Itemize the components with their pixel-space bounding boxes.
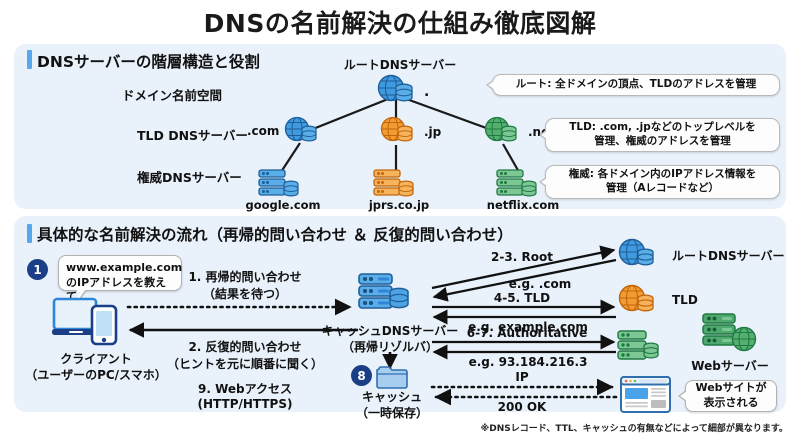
hierarchy-heading: DNSサーバーの階層構造と役割	[37, 50, 260, 72]
row-label-namespace: ドメイン名前空間	[122, 85, 222, 104]
iterative-answer-3: e.g. 93.184.216.3	[469, 355, 588, 369]
authoritative-google-label: google.com	[245, 198, 320, 212]
root-server-title: ルートDNSサーバー	[344, 56, 457, 73]
flow-heading: 具体的な名前解決の流れ（再帰的問い合わせ ＆ 反復的問い合わせ）	[37, 223, 513, 245]
authoritative-jprs-label: jprs.co.jp	[369, 198, 429, 212]
hierarchy-heading-bar	[27, 50, 32, 69]
authoritative-netflix-label: netflix.com	[487, 198, 559, 212]
cache-label-line1: キャッシュ	[362, 388, 422, 405]
arrow-label-2-line2: （ヒントを元に順番に聞く）	[167, 355, 323, 372]
web-server-label: Webサーバー	[691, 357, 768, 374]
client-label-line1: クライアント	[60, 350, 132, 367]
callout-authoritative: 権威: 各ドメイン内のIPアドレス情報を 管理（Aレコードなど）	[545, 165, 780, 199]
flow-root-server-label: ルートDNSサーバー	[672, 247, 785, 264]
tld-jp-label: .jp	[424, 125, 441, 139]
arrow-label-9-line1: 9. Webアクセス	[198, 380, 292, 397]
infographic-root: DNSの名前解決の仕組み徹底図解 DNSサーバーの階層構造と役割 ドメイン名前空…	[0, 0, 800, 436]
tld-com-label: .com	[247, 124, 279, 138]
footnote: ※DNSレコード、TTL、キャッシュの有無などによって細部が異なります。	[481, 421, 788, 434]
flow-heading-bar	[27, 224, 32, 243]
iterative-query-2: 4-5. TLD	[494, 291, 550, 305]
step-circle-8: 8	[351, 365, 372, 386]
flow-tld-server-label: TLD	[672, 293, 698, 307]
website-shown-line2: 表示される	[704, 396, 759, 411]
resolver-label-line2: （再帰リゾルバ）	[342, 338, 438, 355]
bubble-tail	[77, 289, 86, 302]
callout-root: ルート: 全ドメインの頂点、TLDのアドレスを管理	[492, 74, 780, 96]
iterative-query-3: 6-7. Authoritative	[467, 326, 587, 340]
website-shown-bubble: Webサイトが 表示される	[685, 380, 777, 412]
arrow-label-2-line1: 2. 反復的問い合わせ	[188, 338, 301, 355]
iterative-answer-1: e.g. .com	[509, 277, 571, 291]
row-label-tld: TLD DNSサーバー	[137, 125, 248, 144]
root-dot-label: .	[424, 84, 429, 100]
website-shown-line1: Webサイトが	[695, 381, 766, 396]
step-circle-1: 1	[27, 259, 48, 280]
callout-tld: TLD: .com, .jpなどのトップレベルを 管理、権威のアドレスを管理	[545, 118, 780, 152]
page-title: DNSの名前解決の仕組み徹底図解	[0, 4, 800, 40]
resolver-label-line1: キャッシュDNSサーバー	[322, 322, 459, 339]
arrow-label-1-line2: （結果を待つ）	[203, 285, 287, 302]
row-label-authoritative: 権威DNSサーバー	[137, 167, 242, 186]
client-label-line2: （ユーザーのPC/スマホ）	[25, 366, 166, 383]
http-response-label: 200 OK	[498, 400, 547, 414]
client-question-line1: www.example.com	[66, 261, 174, 276]
iterative-query-1: 2-3. Root	[491, 250, 553, 264]
cache-label-line2: （一時保存）	[356, 404, 428, 421]
http-request-label: IP	[515, 370, 528, 384]
arrow-label-9-line2: (HTTP/HTTPS)	[198, 397, 293, 411]
client-question-bubble: www.example.com のIPアドレスを教えて	[58, 255, 182, 291]
arrow-label-1-line1: 1. 再帰的問い合わせ	[188, 268, 301, 285]
